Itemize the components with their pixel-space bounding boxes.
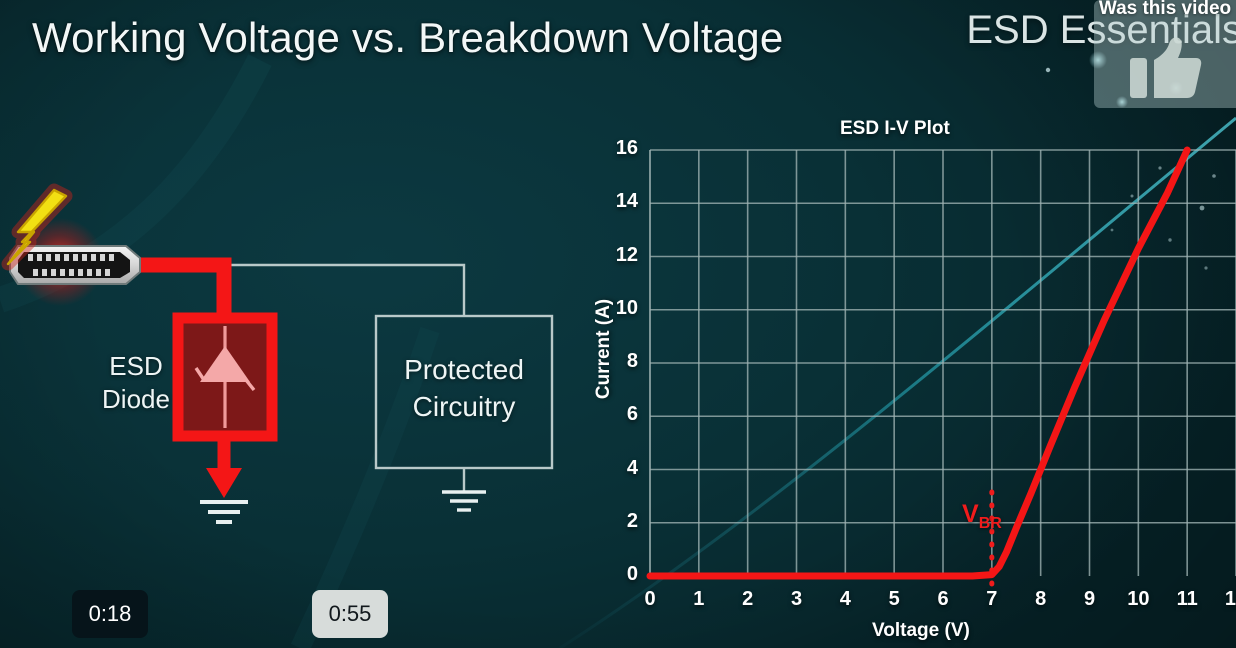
signal-wire-path [136, 265, 464, 316]
chart-plot-area [582, 108, 1236, 648]
x-axis-tick: 5 [879, 588, 909, 611]
x-axis-tick: 1 [684, 588, 714, 611]
breakdown-voltage-annotation: VBR [962, 500, 1002, 533]
esd-diode-label-line2: Diode [102, 384, 170, 414]
y-axis-tick: 12 [604, 244, 638, 267]
x-axis-tick: 9 [1075, 588, 1105, 611]
y-axis-tick: 14 [604, 190, 638, 213]
thumbs-up-icon[interactable] [1128, 36, 1202, 102]
video-survey-overlay[interactable]: Was this video [1094, 0, 1236, 108]
current-time-badge[interactable]: 0:18 [72, 590, 148, 638]
protected-label-line2: Circuitry [413, 391, 516, 422]
protected-label-line1: Protected [404, 354, 524, 385]
x-axis-tick: 3 [782, 588, 812, 611]
x-axis-tick: 12 [1221, 588, 1236, 611]
esd-diode-label: ESD Diode [88, 350, 184, 417]
y-axis-tick: 8 [604, 350, 638, 373]
protected-circuitry-label: Protected Circuitry [380, 352, 548, 426]
x-axis-tick: 10 [1123, 588, 1153, 611]
ground-icon [200, 502, 248, 522]
y-axis-tick: 10 [604, 297, 638, 320]
x-axis-tick: 2 [733, 588, 763, 611]
y-axis-tick: 0 [604, 563, 638, 586]
page-title: Working Voltage vs. Breakdown Voltage [32, 14, 783, 62]
vbr-subscript: BR [979, 515, 1002, 532]
x-axis-tick: 8 [1026, 588, 1056, 611]
vbr-symbol: V [962, 500, 979, 528]
slide-stage: Working Voltage vs. Breakdown Voltage ES… [0, 0, 1236, 648]
y-axis-tick: 6 [604, 403, 638, 426]
marker-time-badge[interactable]: 0:55 [312, 590, 388, 638]
x-axis-tick: 4 [830, 588, 860, 611]
y-axis-tick: 2 [604, 510, 638, 533]
esd-diode-label-line1: ESD [109, 351, 162, 381]
y-axis-tick: 4 [604, 457, 638, 480]
protected-ground-icon [442, 468, 486, 510]
y-axis-tick: 16 [604, 137, 638, 160]
survey-question: Was this video [1099, 0, 1231, 20]
esd-diode-block[interactable] [178, 318, 272, 436]
x-axis-tick: 11 [1172, 588, 1202, 611]
x-axis-tick: 6 [928, 588, 958, 611]
esd-iv-chart: ESD I-V Plot Voltage (V) Current (A) 024… [582, 108, 1236, 648]
x-axis-tick: 7 [977, 588, 1007, 611]
x-axis-tick: 0 [635, 588, 665, 611]
